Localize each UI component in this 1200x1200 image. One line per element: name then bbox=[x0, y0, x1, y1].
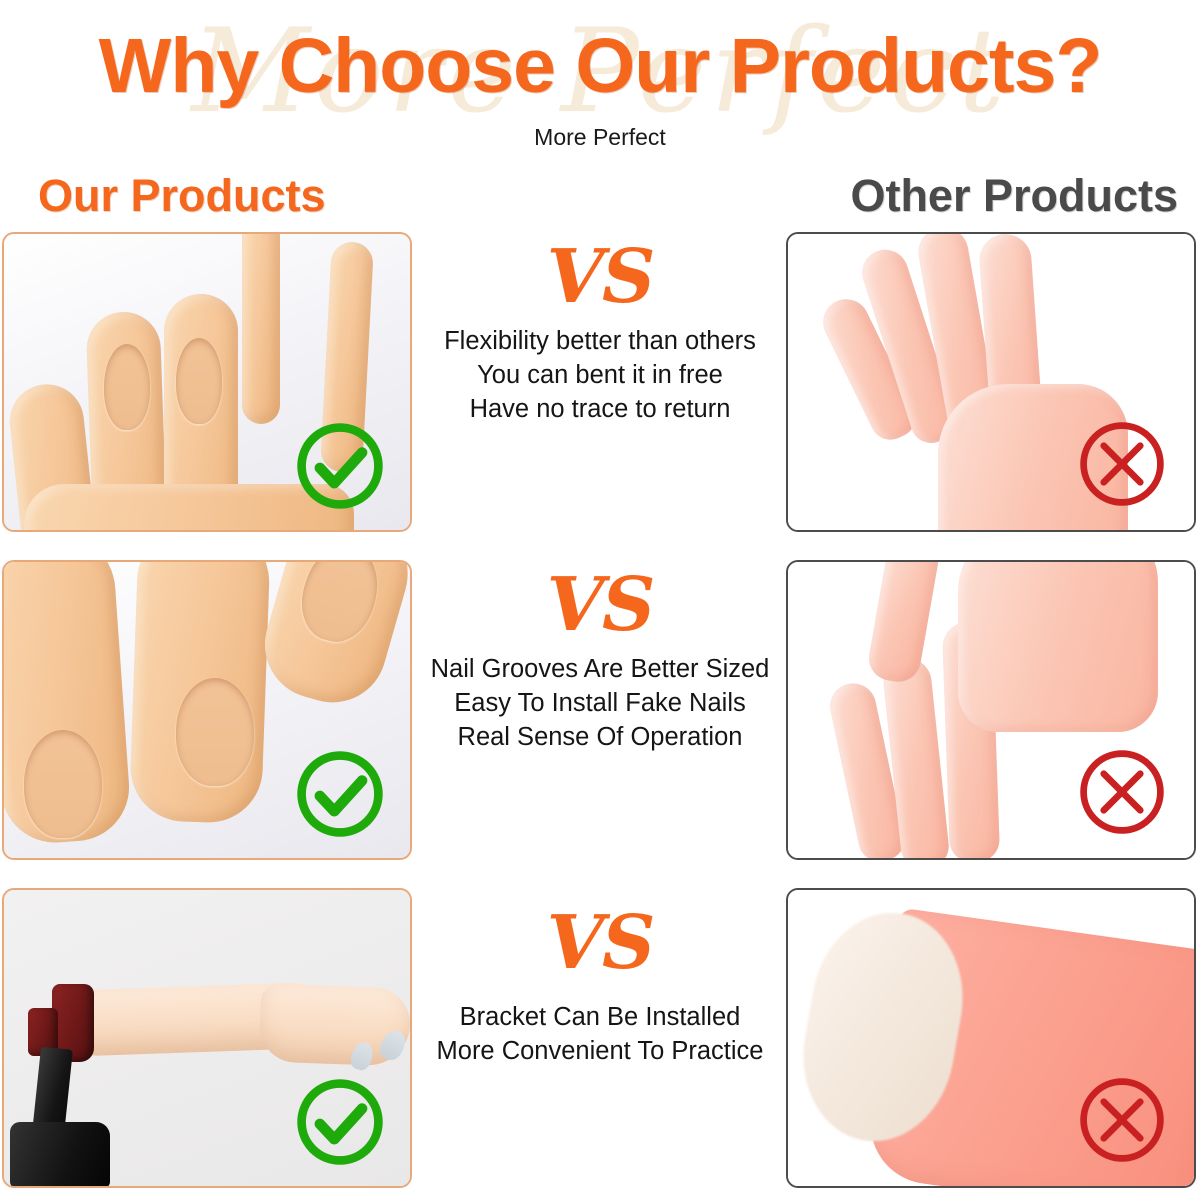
blurb-line: Flexibility better than others bbox=[444, 324, 756, 358]
vs-label: VS bbox=[547, 904, 654, 982]
comparison-blurb: Nail Grooves Are Better Sized Easy To In… bbox=[431, 652, 770, 754]
check-badge bbox=[292, 746, 388, 842]
our-product-panel-nail-grooves[interactable] bbox=[2, 560, 412, 860]
blurb-line: Easy To Install Fake Nails bbox=[431, 686, 770, 720]
column-headings: Our Products Other Products bbox=[0, 170, 1200, 232]
blurb-line: Nail Grooves Are Better Sized bbox=[431, 652, 770, 686]
blurb-line: You can bent it in free bbox=[444, 358, 756, 392]
comparison-blurb: Flexibility better than others You can b… bbox=[444, 324, 756, 426]
vs-label: VS bbox=[547, 238, 654, 316]
blurb-line: Real Sense Of Operation bbox=[431, 720, 770, 754]
comparison-row-bracket: VS Bracket Can Be Installed More Conveni… bbox=[0, 888, 1200, 1200]
check-badge bbox=[292, 418, 388, 514]
cross-badge bbox=[1074, 416, 1170, 512]
comparison-blurb: Bracket Can Be Installed More Convenient… bbox=[437, 1000, 764, 1068]
blurb-line: Bracket Can Be Installed bbox=[437, 1000, 764, 1034]
other-product-panel-nail-grooves[interactable] bbox=[786, 560, 1196, 860]
check-badge bbox=[292, 1074, 388, 1170]
vs-label: VS bbox=[547, 566, 654, 644]
page-subtitle: More Perfect bbox=[0, 124, 1200, 151]
other-product-panel-flexibility[interactable] bbox=[786, 232, 1196, 532]
comparison-text-flexibility: VS Flexibility better than others You ca… bbox=[412, 232, 788, 532]
cross-badge bbox=[1074, 1072, 1170, 1168]
comparison-row-nail-grooves: VS Nail Grooves Are Better Sized Easy To… bbox=[0, 560, 1200, 880]
infographic-page: More Perfect Why Choose Our Products? Mo… bbox=[0, 0, 1200, 1200]
column-heading-other-products: Other Products bbox=[850, 170, 1178, 222]
header: More Perfect Why Choose Our Products? Mo… bbox=[0, 0, 1200, 170]
comparison-row-flexibility: VS Flexibility better than others You ca… bbox=[0, 232, 1200, 552]
our-product-panel-bracket[interactable] bbox=[2, 888, 412, 1188]
comparison-text-bracket: VS Bracket Can Be Installed More Conveni… bbox=[412, 888, 788, 1188]
page-title: Why Choose Our Products? bbox=[0, 24, 1200, 108]
other-product-panel-bracket[interactable] bbox=[786, 888, 1196, 1188]
blurb-line: More Convenient To Practice bbox=[437, 1034, 764, 1068]
blurb-line: Have no trace to return bbox=[444, 392, 756, 426]
column-heading-our-products: Our Products bbox=[38, 170, 326, 222]
our-product-panel-flexibility[interactable] bbox=[2, 232, 412, 532]
cross-badge bbox=[1074, 744, 1170, 840]
comparison-text-nail-grooves: VS Nail Grooves Are Better Sized Easy To… bbox=[412, 560, 788, 860]
